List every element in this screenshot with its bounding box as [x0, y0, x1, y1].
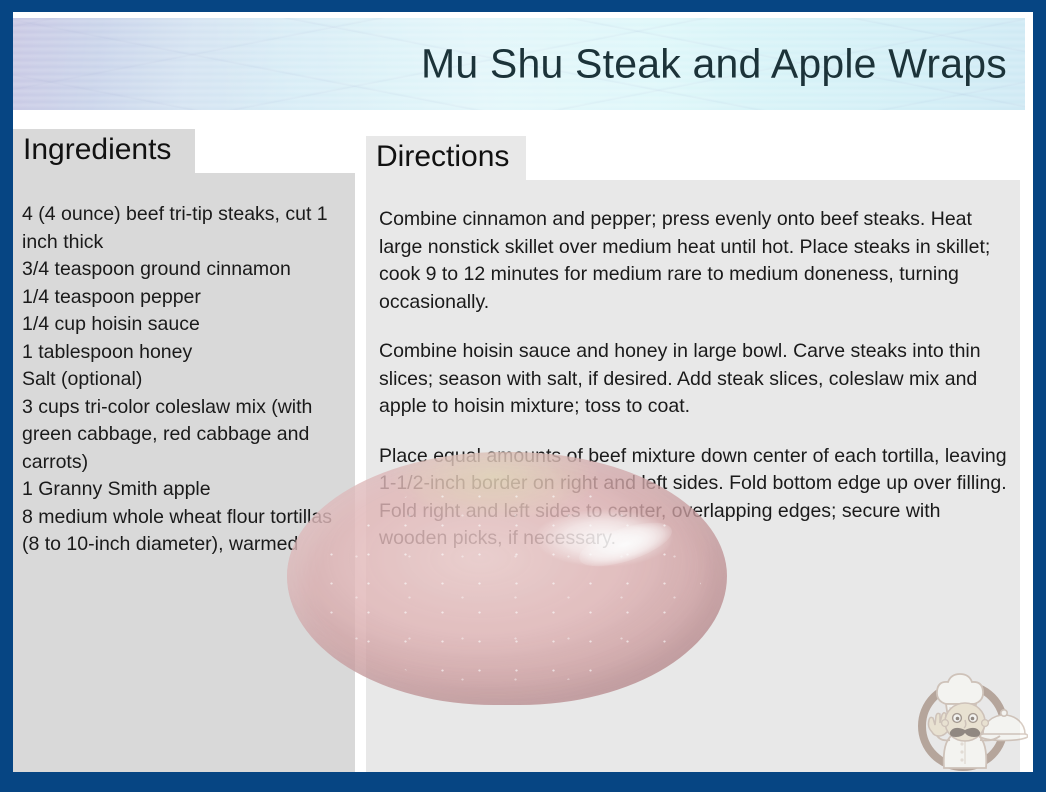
ingredient-item: 1 Granny Smith apple [22, 476, 347, 504]
ingredient-item: 1/4 teaspoon pepper [22, 284, 347, 312]
chef-with-serving-dome-logo [906, 660, 1028, 772]
directions-heading: Directions [366, 136, 526, 180]
ingredients-heading: Ingredients [13, 129, 195, 173]
ingredients-list: 4 (4 ounce) beef tri-tip steaks, cut 1 i… [13, 173, 355, 772]
ingredient-item: 3/4 teaspoon ground cinnamon [22, 256, 347, 284]
ingredient-item: 1/4 cup hoisin sauce [22, 311, 347, 339]
page-title: Mu Shu Steak and Apple Wraps [421, 41, 1007, 88]
slide-inner-canvas: Mu Shu Steak and Apple Wraps Ingredients… [13, 12, 1033, 772]
ingredient-item: 4 (4 ounce) beef tri-tip steaks, cut 1 i… [22, 201, 347, 256]
ingredient-item: 8 medium whole wheat flour tortillas (8 … [22, 504, 347, 559]
title-banner: Mu Shu Steak and Apple Wraps [13, 18, 1025, 110]
ingredient-item: 3 cups tri-color coleslaw mix (with gree… [22, 394, 347, 477]
direction-step: Combine hoisin sauce and honey in large … [379, 338, 1010, 421]
recipe-slide: Mu Shu Steak and Apple Wraps Ingredients… [0, 0, 1046, 792]
direction-step: Place equal amounts of beef mixture down… [379, 443, 1010, 553]
ingredient-item: Salt (optional) [22, 366, 347, 394]
ingredient-item: 1 tablespoon honey [22, 339, 347, 367]
direction-step: Combine cinnamon and pepper; press evenl… [379, 206, 1010, 316]
